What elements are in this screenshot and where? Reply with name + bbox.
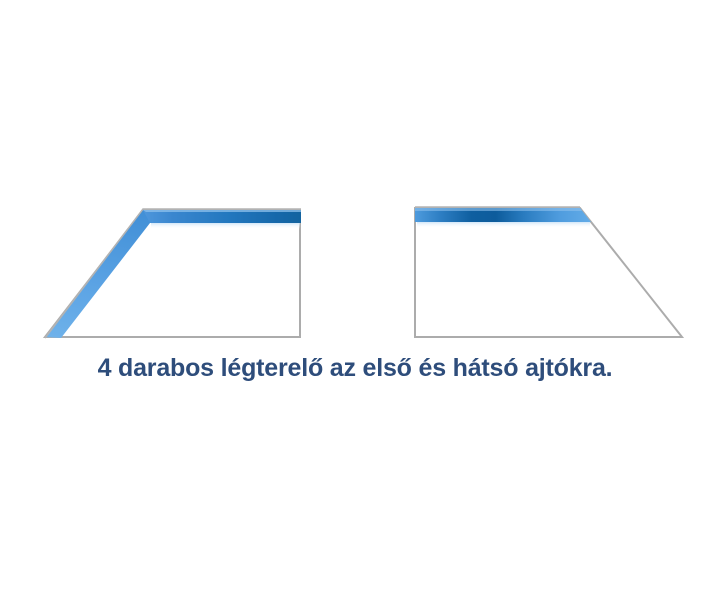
front-deflector-band-highlight <box>143 210 301 212</box>
wind-deflector-svg <box>0 0 710 355</box>
rear-deflector-band-underglow <box>417 221 590 228</box>
rear-deflector-band-highlight <box>415 208 582 211</box>
product-caption: 4 darabos légterelő az első és hátsó ajt… <box>0 352 710 384</box>
wind-deflector-shapes-stage <box>0 0 710 355</box>
front-deflector-body-fill <box>45 210 300 337</box>
front-deflector-band-underglow <box>151 222 300 229</box>
product-illustration-panel: 4 darabos légterelő az első és hátsó ajt… <box>0 0 710 613</box>
front-door-deflector-shape <box>45 209 301 338</box>
rear-door-deflector-shape <box>415 207 682 337</box>
